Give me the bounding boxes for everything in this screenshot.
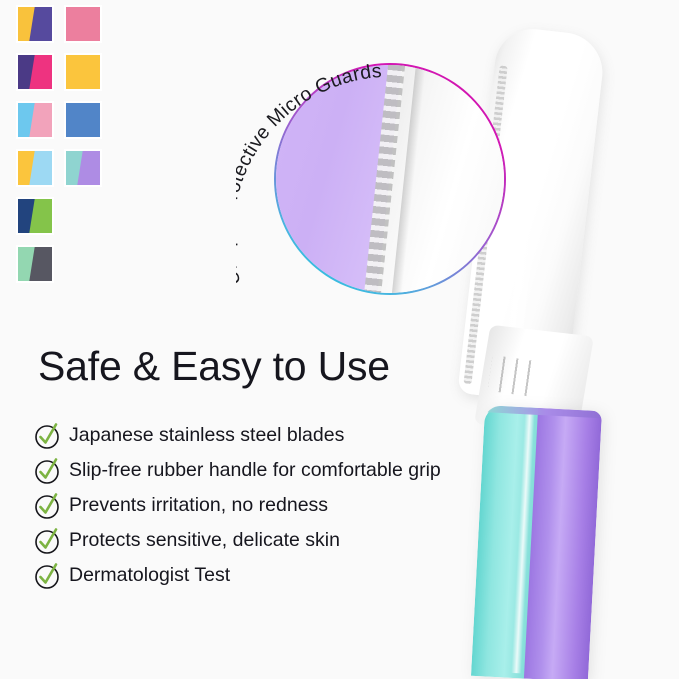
swatch-fill (66, 103, 100, 137)
swatch-fill (66, 151, 100, 185)
feature-label: Dermatologist Test (69, 566, 230, 586)
swatch-pink[interactable] (64, 5, 102, 43)
check-circle-icon (34, 528, 60, 554)
swatch-row (16, 5, 106, 53)
check-circle-icon (34, 458, 60, 484)
feature-label: Protects sensitive, delicate skin (69, 531, 340, 551)
feature-japanese-blades: Japanese stainless steel blades (34, 418, 474, 453)
check-circle-icon (34, 563, 60, 589)
razor-grip-lines (488, 355, 539, 397)
swatch-row (16, 53, 106, 101)
swatch-yellow-skyblue[interactable] (16, 149, 54, 187)
swatch-row (16, 149, 106, 197)
swatch-skyblue-pink[interactable] (16, 101, 54, 139)
check-circle-icon (34, 493, 60, 519)
swatch-fill (18, 7, 52, 41)
swatch-yellow-indigo[interactable] (16, 5, 54, 43)
swatch-fill (66, 55, 100, 89)
swatch-row (16, 101, 106, 149)
swatch-fill (18, 199, 52, 233)
swatch-row (16, 197, 106, 245)
swatch-color-a (66, 7, 100, 41)
magnifier-lens (276, 65, 504, 293)
feature-protects-skin: Protects sensitive, delicate skin (34, 523, 474, 558)
swatch-teal-purple[interactable] (64, 149, 102, 187)
feature-label: Japanese stainless steel blades (69, 426, 344, 446)
feature-slip-free-handle: Slip-free rubber handle for comfortable … (34, 453, 474, 488)
swatch-color-a (66, 55, 100, 89)
swatch-fill (18, 103, 52, 137)
swatch-indigo-magenta[interactable] (16, 53, 54, 91)
swatch-color-a (66, 103, 100, 137)
feature-prevents-irritation: Prevents irritation, no redness (34, 488, 474, 523)
feature-label: Prevents irritation, no redness (69, 496, 328, 516)
handle-purple-section (524, 408, 602, 679)
swatch-fill (66, 7, 100, 41)
swatch-fill (18, 55, 52, 89)
razor-handle (471, 405, 602, 679)
color-variant-swatches (16, 5, 106, 293)
swatch-fill (18, 247, 52, 281)
check-circle-icon (34, 423, 60, 449)
feature-label: Slip-free rubber handle for comfortable … (69, 461, 441, 481)
swatch-navy-green[interactable] (16, 197, 54, 235)
micro-guards-magnifier (274, 63, 506, 295)
product-feature-image: Unique Protective Micro Guards Safe & Ea… (0, 0, 679, 679)
swatch-fill (18, 151, 52, 185)
feature-list: Japanese stainless steel bladesSlip-free… (34, 418, 474, 593)
swatch-yellow[interactable] (64, 53, 102, 91)
swatch-row (16, 245, 106, 293)
page-title: Safe & Easy to Use (38, 343, 390, 390)
feature-dermatologist-test: Dermatologist Test (34, 558, 474, 593)
swatch-mint-charcoal[interactable] (16, 245, 54, 283)
swatch-blue[interactable] (64, 101, 102, 139)
